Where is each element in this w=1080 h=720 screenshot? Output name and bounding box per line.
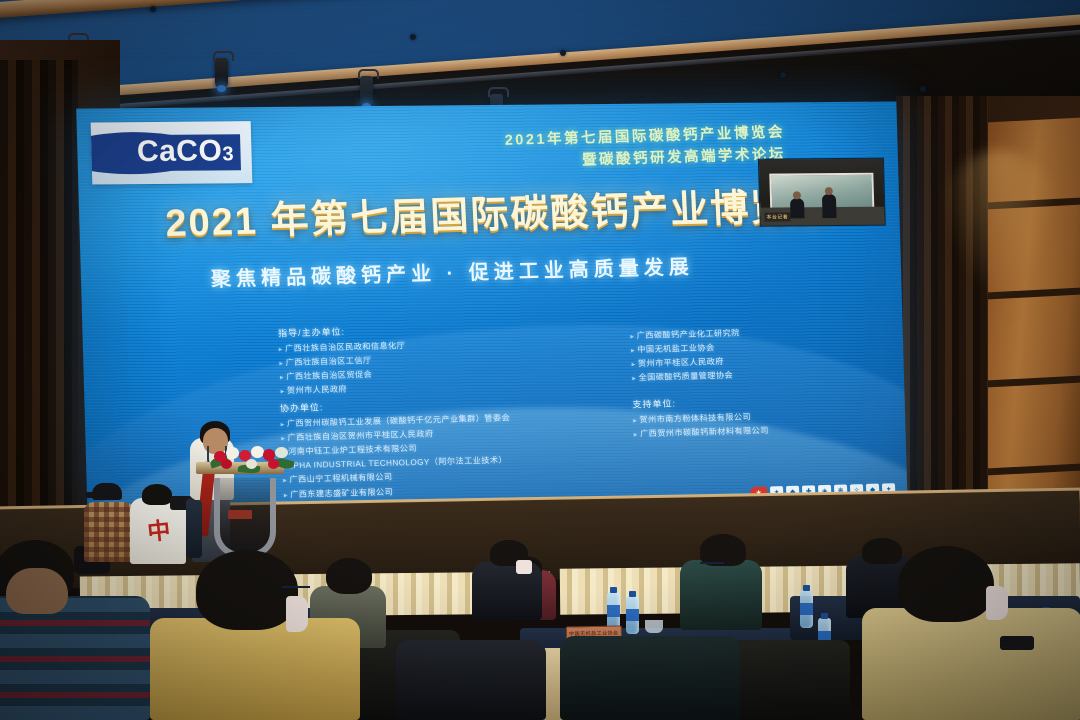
logo-text: CaCO3	[129, 135, 241, 171]
attendee-teal	[680, 560, 762, 630]
water-bottle	[800, 590, 813, 628]
caco3-logo: CaCO3	[91, 121, 253, 184]
foreground-attendee-beige-shirt	[862, 608, 1080, 720]
ceiling-downlight-icon	[780, 72, 786, 78]
eyeglasses	[282, 586, 310, 592]
foreground-attendee-yellow-shirt	[150, 618, 360, 720]
pip-label: 本台记者	[764, 212, 790, 221]
stage-light-icon	[215, 58, 228, 88]
shirt-character-glyph: 中	[145, 518, 174, 547]
attendee-hair	[898, 546, 994, 622]
face-mask	[986, 586, 1008, 620]
conference-hall-photo: CaCO3 2021年第七届国际碳酸钙产业博览会 暨碳酸钙研发高端学术论坛 20…	[0, 0, 1080, 720]
organizer-column-1: 指导/主办单位: 广西壮族自治区民政和信息化厅 广西壮族自治区工信厅 广西壮族自…	[278, 322, 461, 399]
ceiling-downlight-icon	[920, 86, 926, 92]
organizer-column-2: 广西碳酸钙产业化工研究院 中国无机盐工业协会 贺州市平桂区人民政府 全国碳酸钙质…	[630, 324, 822, 385]
water-bottle	[626, 596, 639, 634]
water-bottle	[607, 592, 620, 630]
black-cap	[92, 483, 122, 500]
organizer-column-4: 支持单位: 贺州市南方粉体科技有限公司 广西贺州市碳酸钙新材料有限公司	[632, 392, 844, 442]
face-mask	[286, 596, 308, 632]
ceiling-downlight-icon	[410, 34, 416, 40]
drinking-glass	[645, 620, 663, 633]
organizer-column-3: 协办单位: 广西贺州碳酸钙工业发展（碳酸钙千亿元产业集群）管委会 广西壮族自治区…	[280, 394, 584, 502]
left-curtain	[0, 60, 78, 560]
attendee-hair	[862, 538, 902, 564]
logo-text-subscript: 3	[222, 144, 234, 166]
ceiling-downlight-icon	[150, 6, 156, 12]
standing-attendee	[186, 500, 202, 558]
podium-plaque	[228, 510, 252, 519]
stage-light-icon	[360, 76, 373, 106]
attendee-hair	[326, 558, 372, 594]
podium-flower-arrangement	[208, 443, 300, 471]
logo-text-main: CaCO	[136, 135, 222, 169]
face-mask	[516, 560, 532, 574]
foreground-attendee-dark-suit	[396, 640, 546, 720]
pip-video-inset: 本台记者	[758, 158, 886, 227]
foreground-attendee-dark-green	[560, 636, 740, 720]
eyeglasses	[700, 562, 724, 568]
wristwatch	[1000, 636, 1034, 650]
wall-wash-light	[940, 150, 1060, 300]
foreground-attendee-striped-polo	[0, 596, 150, 720]
photographer-hair	[142, 484, 172, 505]
ceiling-downlight-icon	[560, 50, 566, 56]
attendee-neck	[6, 568, 68, 614]
photographer-plaid-shirt	[84, 502, 134, 562]
